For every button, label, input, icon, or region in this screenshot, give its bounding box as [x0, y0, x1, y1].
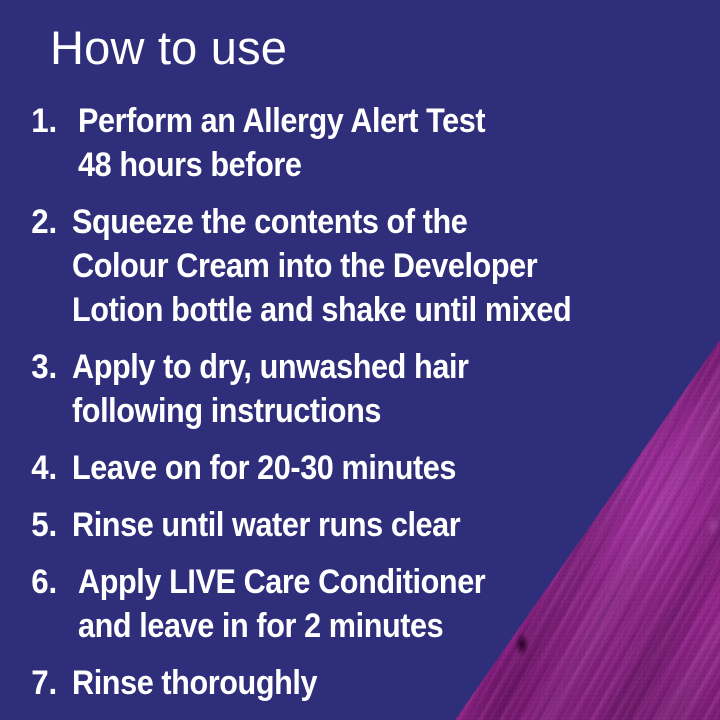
step-number: 6.: [5, 560, 57, 604]
step-number: 1.: [5, 99, 57, 143]
instruction-step-list: 1. Perform an Allergy Alert Test 48 hour…: [0, 99, 720, 718]
list-item: 6. Apply LIVE Care Conditioner and leave…: [0, 560, 720, 648]
list-item: 1. Perform an Allergy Alert Test 48 hour…: [0, 99, 720, 187]
step-text: Squeeze the contents of the Colour Cream…: [72, 200, 571, 332]
step-text: Leave on for 20-30 minutes: [72, 446, 456, 490]
list-item: 7. Rinse thoroughly: [0, 661, 720, 705]
step-text: Perform an Allergy Alert Test 48 hours b…: [78, 99, 485, 187]
list-item: 2. Squeeze the contents of the Colour Cr…: [0, 200, 720, 332]
step-text: Rinse until water runs clear: [72, 503, 460, 547]
list-item: 3. Apply to dry, unwashed hair following…: [0, 345, 720, 433]
step-number: 3.: [5, 345, 57, 389]
step-number: 5.: [5, 503, 57, 547]
step-number: 2.: [5, 200, 57, 244]
step-text: Apply to dry, unwashed hair following in…: [72, 345, 469, 433]
step-number: 4.: [5, 446, 57, 490]
list-item: 5. Rinse until water runs clear: [0, 503, 720, 547]
page-title: How to use: [50, 23, 287, 74]
step-number: 7.: [5, 661, 57, 705]
step-text: Apply LIVE Care Conditioner and leave in…: [78, 560, 485, 648]
step-text: Rinse thoroughly: [72, 661, 317, 705]
how-to-use-poster: How to use 1. Perform an Allergy Alert T…: [0, 0, 720, 720]
list-item: 4. Leave on for 20-30 minutes: [0, 446, 720, 490]
